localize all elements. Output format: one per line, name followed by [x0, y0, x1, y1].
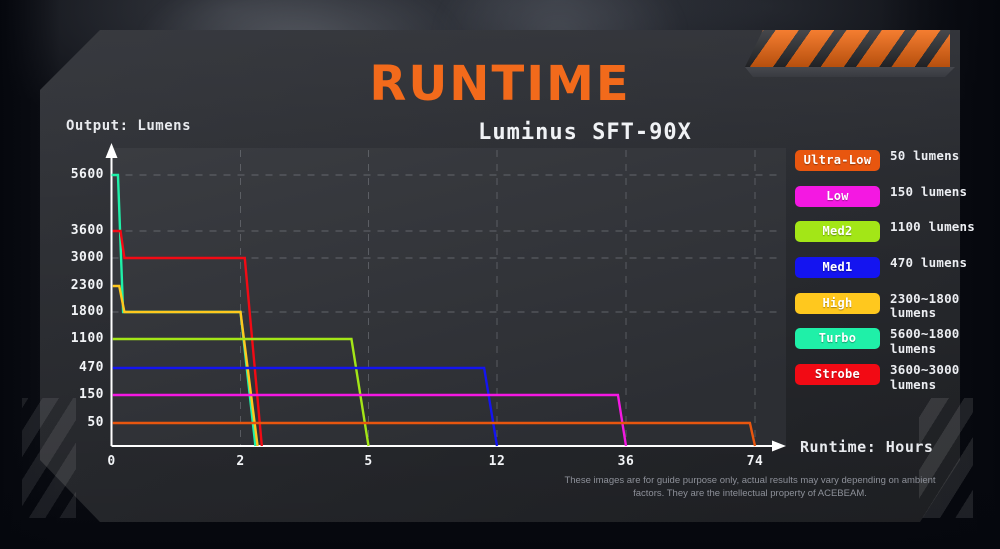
legend-row: Low150 lumens [795, 186, 975, 222]
y-tick-label: 2300 [52, 278, 104, 293]
x-tick-label: 5 [349, 454, 389, 469]
x-tick-label: 74 [735, 454, 775, 469]
x-tick-label: 12 [477, 454, 517, 469]
legend-value: 50 lumens [890, 149, 985, 164]
y-tick-label: 1800 [52, 304, 104, 319]
legend: Ultra-Low50 lumensLow150 lumensMed21100 … [795, 150, 975, 400]
y-tick-label: 150 [52, 387, 104, 402]
x-tick-label: 2 [221, 454, 261, 469]
legend-row: Med1470 lumens [795, 257, 975, 293]
legend-value: 470 lumens [890, 256, 985, 271]
y-tick-label: 5600 [52, 167, 104, 182]
legend-row: Ultra-Low50 lumens [795, 150, 975, 186]
y-tick-label: 3600 [52, 223, 104, 238]
legend-row: Med21100 lumens [795, 221, 975, 257]
x-tick-label: 0 [92, 454, 132, 469]
y-tick-label: 50 [52, 415, 104, 430]
y-tick-label: 3000 [52, 250, 104, 265]
legend-badge-turbo[interactable]: Turbo [795, 328, 880, 349]
legend-value: 2300~1800 lumens [890, 292, 985, 321]
y-tick-label: 1100 [52, 331, 104, 346]
legend-badge-high[interactable]: High [795, 293, 880, 314]
x-tick-label: 36 [606, 454, 646, 469]
legend-badge-low[interactable]: Low [795, 186, 880, 207]
legend-value: 3600~3000 lumens [890, 363, 985, 392]
legend-value: 5600~1800 lumens [890, 327, 985, 356]
legend-row: High2300~1800 lumens [795, 293, 975, 329]
legend-value: 150 lumens [890, 185, 985, 200]
legend-badge-med2[interactable]: Med2 [795, 221, 880, 242]
plot-gradient [112, 148, 787, 446]
legend-badge-strobe[interactable]: Strobe [795, 364, 880, 385]
legend-row: Turbo5600~1800 lumens [795, 328, 975, 364]
legend-badge-ultra-low[interactable]: Ultra-Low [795, 150, 880, 171]
footnote: These images are for guide purpose only,… [560, 474, 940, 500]
y-tick-label: 470 [52, 360, 104, 375]
legend-badge-med1[interactable]: Med1 [795, 257, 880, 278]
legend-value: 1100 lumens [890, 220, 985, 235]
legend-row: Strobe3600~3000 lumens [795, 364, 975, 400]
